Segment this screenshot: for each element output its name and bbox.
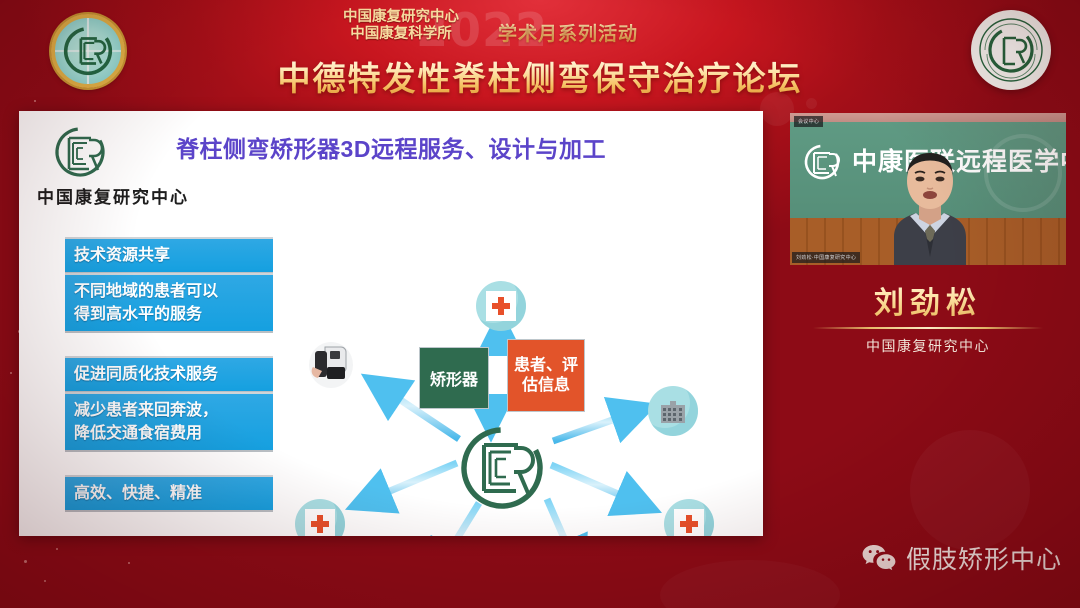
bokeh-decoration [910, 430, 1030, 550]
bullet-line: 技术资源共享 [74, 244, 264, 267]
bullet-line: 不同地域的患者可以 [74, 280, 264, 303]
speaker-nameplate: 刘劲松 中国康复研究中心 [790, 278, 1066, 360]
sparkle-particle [24, 560, 27, 563]
patient-info-line-1: 患者、评 [514, 356, 578, 376]
sparkle-particle [56, 548, 58, 550]
organizer-line-2: 中国康复科学所 [306, 26, 496, 43]
presentation-slide[interactable]: 中国康复研究中心 脊柱侧弯矫形器3D远程服务、设计与加工 技术资源共享 不同地域… [19, 111, 763, 536]
video-label-bottom-left: 刘劲松·中国康复研究中心 [792, 252, 860, 263]
orthosis-label: 矫形器 [430, 366, 478, 390]
slide-title: 脊柱侧弯矫形器3D远程服务、设计与加工 [176, 130, 606, 164]
bullet-box-2: 不同地域的患者可以 得到高水平的服务 [65, 273, 273, 333]
medical-cross-icon [674, 509, 704, 536]
wechat-icon [862, 544, 896, 572]
crsi-seal-icon [971, 10, 1051, 90]
hospital-building-right-icon [648, 386, 698, 436]
sparkle-particle [44, 580, 46, 582]
3d-scanner-top-left-icon [307, 337, 355, 389]
medical-cross-icon [486, 291, 516, 321]
speaker-name: 刘劲松 [790, 278, 1066, 322]
speaker-avatar [874, 141, 986, 265]
nameplate-divider [813, 327, 1043, 329]
orthosis-block: 矫形器 [419, 347, 489, 409]
medical-cross-icon [305, 509, 335, 536]
crsi-seal-logo-icon [971, 10, 1051, 90]
sparkle-particle [128, 562, 130, 564]
slide-brand-name: 中国康复研究中心 [37, 183, 217, 208]
patient-info-block: 患者、评 估信息 [507, 339, 585, 412]
crc-monogram-icon [55, 18, 121, 84]
patient-info-line-2: 估信息 [514, 376, 578, 396]
speaker-video-feed[interactable]: 中康医联远程医学中心 会议中心 刘劲松·中国康复研究中心 [790, 113, 1066, 265]
speaker-organization: 中国康复研究中心 [790, 336, 1066, 356]
event-main-title: 中德特发性脊柱侧弯保守治疗论坛 [278, 52, 803, 100]
bullet-box-3: 促进同质化技术服务 [65, 356, 273, 393]
bullet-box-5: 高效、快捷、精准 [65, 475, 273, 512]
bullet-line: 减少患者来回奔波， [74, 399, 264, 422]
channel-watermark: 假肢矫形中心 [862, 540, 1062, 576]
watermark-text: 假肢矫形中心 [906, 540, 1062, 576]
bullet-line: 促进同质化技术服务 [74, 363, 264, 386]
crc-globe-logo-icon [51, 14, 125, 88]
bullet-box-4: 减少患者来回奔波， 降低交通食宿费用 [65, 392, 273, 452]
header-subtitle-group: 2022 中国康复研究中心 中国康复科学所 学术月系列活动 [220, 8, 860, 56]
backdrop-watermark-ring [984, 134, 1062, 212]
crc-hub-logo-icon [455, 423, 549, 513]
crc-circular-logo-icon [47, 125, 113, 181]
broadcast-stage: 2022 中国康复研究中心 中国康复科学所 学术月系列活动 中德特发性脊柱侧弯保… [0, 0, 1080, 608]
bullet-line: 降低交通食宿费用 [74, 422, 264, 445]
hospital-cross-top-icon [476, 281, 526, 331]
bullet-line: 得到高水平的服务 [74, 303, 264, 326]
hospital-cross-left-icon [295, 499, 345, 536]
building-icon [660, 399, 686, 423]
organizer-names: 中国康复研究中心 中国康复科学所 [306, 9, 496, 43]
bokeh-decoration [660, 560, 840, 608]
hospital-cross-right-icon [664, 499, 714, 536]
sparkle-particle [10, 372, 12, 374]
series-label: 学术月系列活动 [498, 19, 638, 46]
bullet-box-1: 技术资源共享 [65, 237, 273, 274]
crc-white-logo-icon [799, 142, 845, 182]
bullet-line: 高效、快捷、精准 [74, 482, 264, 505]
event-header: 2022 中国康复研究中心 中国康复科学所 学术月系列活动 中德特发性脊柱侧弯保… [0, 0, 1080, 104]
organizer-line-1: 中国康复研究中心 [306, 9, 496, 26]
video-label-top-left: 会议中心 [794, 116, 823, 127]
